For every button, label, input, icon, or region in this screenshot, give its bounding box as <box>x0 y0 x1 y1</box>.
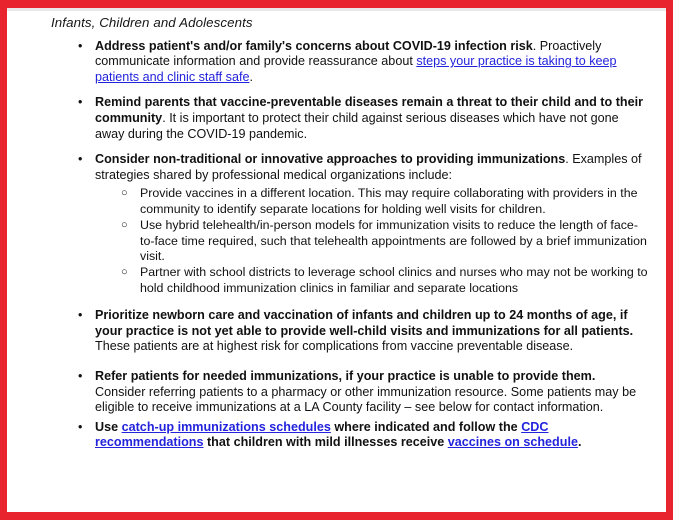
sub-bullet-text: Provide vaccines in a different location… <box>140 186 638 215</box>
bullet-circle-icon: ○ <box>121 218 128 234</box>
bullet-5-body: Consider referring patients to a pharmac… <box>95 385 636 415</box>
bullet-5-lead: Refer patients for needed immunizations,… <box>95 369 595 383</box>
bullet-disc-icon: • <box>78 39 82 55</box>
sub-bullet-wrapper: ○ Provide vaccines in a different locati… <box>115 186 648 296</box>
sub-bullet-hybrid-telehealth: ○ Use hybrid telehealth/in-person models… <box>115 218 648 264</box>
bullet-1-lead: Address patient's and/or family's concer… <box>95 39 533 53</box>
bullet-3-lead: Consider non-traditional or innovative a… <box>95 152 565 166</box>
bullet-item-prioritize-newborn-care: • Prioritize newborn care and vaccinatio… <box>51 308 648 355</box>
bullet-6-pre: Use <box>95 420 122 434</box>
bullet-circle-icon: ○ <box>121 265 128 281</box>
bullet-item-catchup-schedules: • Use catch-up immunizations schedules w… <box>51 420 648 451</box>
link-vaccines-on-schedule[interactable]: vaccines on schedule <box>448 435 578 449</box>
bullet-4-lead: Prioritize newborn care and vaccination … <box>95 308 613 322</box>
document-page: Infants, Children and Adolescents • Addr… <box>0 0 673 520</box>
bullet-1-lead-punct: . <box>533 39 537 53</box>
bullet-2-lead-punct: . <box>162 111 166 125</box>
bullet-disc-icon: • <box>78 152 82 168</box>
bullet-item-nontraditional-approaches: • Consider non-traditional or innovative… <box>51 152 648 296</box>
bullet-2-body: It is important to protect their child a… <box>95 111 619 141</box>
strategy-sub-list: ○ Provide vaccines in a different locati… <box>115 186 648 296</box>
bullet-3-lead-punct: . <box>565 152 569 166</box>
bullet-disc-icon: • <box>78 420 82 436</box>
section-heading: Infants, Children and Adolescents <box>51 15 648 32</box>
bullet-disc-icon: • <box>78 369 82 385</box>
bullet-item-remind-parents: • Remind parents that vaccine-preventabl… <box>51 95 648 142</box>
bullet-circle-icon: ○ <box>121 186 128 202</box>
document-content: Infants, Children and Adolescents • Addr… <box>7 8 666 512</box>
bullet-disc-icon: • <box>78 95 82 111</box>
sub-bullet-different-location: ○ Provide vaccines in a different locati… <box>115 186 648 217</box>
bullet-item-refer-patients: • Refer patients for needed immunization… <box>51 369 648 416</box>
bullet-1-body-post: . <box>249 70 253 84</box>
bullet-item-address-concerns: • Address patient's and/or family's conc… <box>51 39 648 86</box>
bullet-6-mid2: that children with mild illnesses receiv… <box>203 435 447 449</box>
guidance-bullet-list: • Address patient's and/or family's conc… <box>51 39 648 451</box>
bullet-6-post: . <box>578 435 582 449</box>
bullet-4-body: These patients are at highest risk for c… <box>95 339 573 353</box>
sub-bullet-school-districts: ○ Partner with school districts to lever… <box>115 265 648 296</box>
sub-bullet-text: Partner with school districts to leverag… <box>140 265 648 294</box>
sub-bullet-text: Use hybrid telehealth/in-person models f… <box>140 218 647 263</box>
bullet-6-mid1: where indicated and follow the <box>331 420 521 434</box>
bullet-disc-icon: • <box>78 308 82 324</box>
link-catch-up-immunization-schedules[interactable]: catch-up immunizations schedules <box>122 420 331 434</box>
